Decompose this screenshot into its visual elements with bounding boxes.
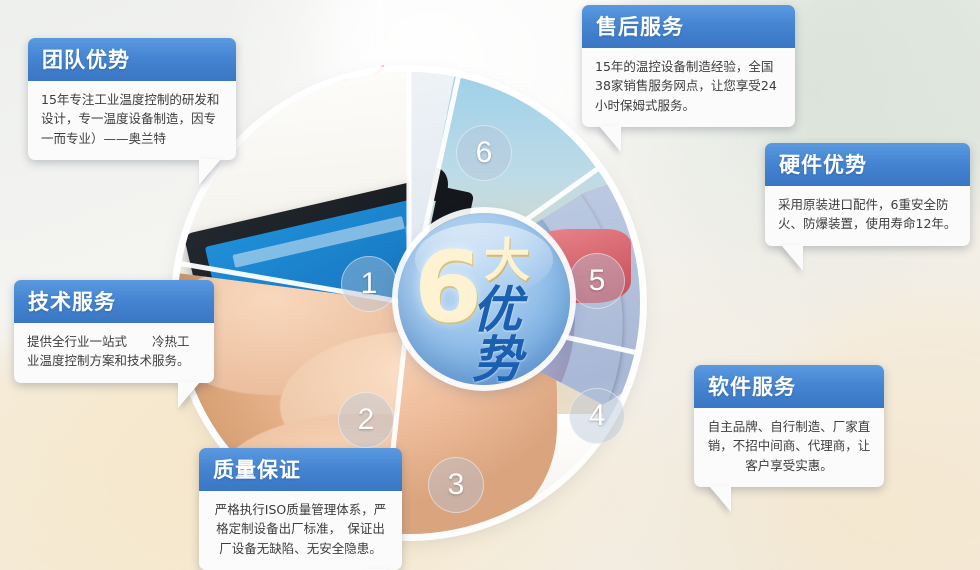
- callout-hardware-text: 采用原装进口配件，6重安全防火、防爆装置，使用寿命12年。: [765, 186, 970, 246]
- callout-team-advantage[interactable]: 团队优势 15年专注工业温度控制的研发和设计，专一温度设备制造，因专一而专业）—…: [28, 38, 236, 160]
- callout-software-title: 软件服务: [694, 365, 884, 408]
- callout-quality-title: 质量保证: [199, 448, 402, 491]
- callout-software-service[interactable]: 软件服务 自主品牌、自行制造、厂家直销，不招中间商、代理商，让客户享受实惠。: [694, 365, 884, 487]
- center-suffix: 优势: [472, 285, 570, 385]
- callout-software-tail: [709, 486, 731, 512]
- callout-software-text: 自主品牌、自行制造、厂家直销，不招中间商、代理商，让客户享受实惠。: [694, 408, 884, 487]
- callout-hardware-title: 硬件优势: [765, 143, 970, 186]
- number-label-2: 2: [358, 405, 375, 435]
- segment-number-5[interactable]: 5: [569, 253, 625, 309]
- callout-after-sales-title: 售后服务: [582, 5, 795, 48]
- segment-number-3[interactable]: 3: [428, 457, 484, 513]
- number-label-1: 1: [361, 269, 378, 299]
- callout-team-title: 团队优势: [28, 38, 236, 81]
- segment-number-1[interactable]: 1: [341, 256, 397, 312]
- callout-quality-text: 严格执行ISO质量管理体系，严格定制设备出厂标准， 保证出厂设备无缺陷、无安全隐…: [199, 491, 402, 570]
- callout-technical-service[interactable]: 技术服务 提供全行业一站式 冷热工业温度控制方案和技术服务。: [14, 280, 214, 383]
- center-big-word: 大: [484, 237, 530, 283]
- number-label-3: 3: [448, 470, 465, 500]
- callout-team-tail: [199, 159, 221, 185]
- infographic-stage: INTC: [0, 0, 980, 570]
- number-label-6: 6: [476, 138, 493, 168]
- callout-after-sales-tail: [599, 126, 621, 152]
- segment-number-4[interactable]: 4: [569, 388, 625, 444]
- callout-technical-title: 技术服务: [14, 280, 214, 323]
- callout-after-sales-text: 15年的温控设备制造经验，全国38家销售服务网点，让您享受24小时保姆式服务。: [582, 48, 795, 127]
- number-label-5: 5: [589, 266, 606, 296]
- callout-hardware-tail: [781, 245, 803, 271]
- callout-technical-text: 提供全行业一站式 冷热工业温度控制方案和技术服务。: [14, 323, 214, 383]
- callout-quality-assurance[interactable]: 质量保证 严格执行ISO质量管理体系，严格定制设备出厂标准， 保证出厂设备无缺陷…: [199, 448, 402, 570]
- callout-technical-tail: [178, 382, 200, 408]
- callout-hardware-advantage[interactable]: 硬件优势 采用原装进口配件，6重安全防火、防爆装置，使用寿命12年。: [765, 143, 970, 246]
- callout-team-text: 15年专注工业温度控制的研发和设计，专一温度设备制造，因专一而专业）——奥兰特: [28, 81, 236, 160]
- center-badge: 6 大 优势: [398, 213, 570, 385]
- segment-number-2[interactable]: 2: [338, 392, 394, 448]
- number-label-4: 4: [589, 401, 606, 431]
- callout-after-sales[interactable]: 售后服务 15年的温控设备制造经验，全国38家销售服务网点，让您享受24小时保姆…: [582, 5, 795, 127]
- segment-number-6[interactable]: 6: [456, 125, 512, 181]
